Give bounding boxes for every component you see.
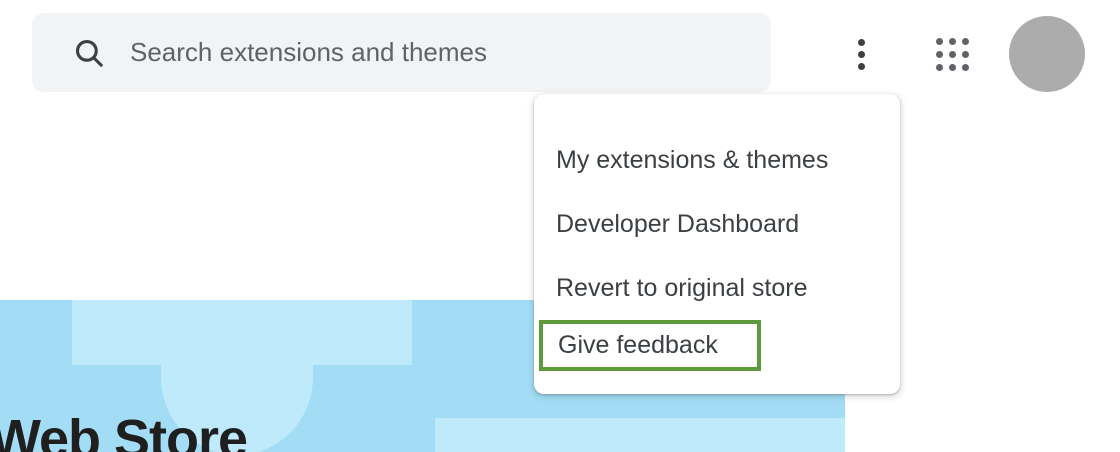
menu-item-my-extensions-and-themes[interactable]: My extensions & themes xyxy=(534,128,900,192)
more-vert-dot xyxy=(858,39,865,46)
more-vert-dot xyxy=(858,51,865,58)
overflow-menu-icon[interactable] xyxy=(840,33,882,75)
apps-grid-icon[interactable] xyxy=(931,33,973,75)
search-icon xyxy=(72,36,106,70)
apps-grid-dot xyxy=(949,38,956,45)
menu-item-label: Give feedback xyxy=(558,331,718,360)
overflow-dropdown-menu: My extensions & themes Developer Dashboa… xyxy=(534,94,900,394)
avatar[interactable] xyxy=(1009,16,1085,92)
apps-grid-dot xyxy=(962,51,969,58)
menu-item-revert-to-original-store[interactable]: Revert to original store xyxy=(534,256,900,320)
apps-grid-dot xyxy=(949,51,956,58)
web-store-page: Web Store xyxy=(0,0,1120,452)
more-vert-dot xyxy=(858,63,865,70)
apps-grid-dot xyxy=(936,64,943,71)
menu-item-label: Developer Dashboard xyxy=(556,210,799,239)
apps-grid-dot xyxy=(936,51,943,58)
search-input[interactable] xyxy=(130,33,750,73)
menu-item-give-feedback[interactable]: Give feedback xyxy=(539,320,761,371)
hero-title: Web Store xyxy=(0,412,247,452)
search-box[interactable] xyxy=(32,13,771,92)
hero-decor-rectangle-bottom-right xyxy=(435,418,845,452)
menu-item-label: My extensions & themes xyxy=(556,146,828,175)
apps-grid-dot xyxy=(949,64,956,71)
menu-item-label: Revert to original store xyxy=(556,274,808,303)
menu-item-developer-dashboard[interactable]: Developer Dashboard xyxy=(534,192,900,256)
apps-grid-dot xyxy=(962,64,969,71)
top-bar xyxy=(0,0,1120,105)
apps-grid-dot xyxy=(962,38,969,45)
apps-grid-dot xyxy=(936,38,943,45)
